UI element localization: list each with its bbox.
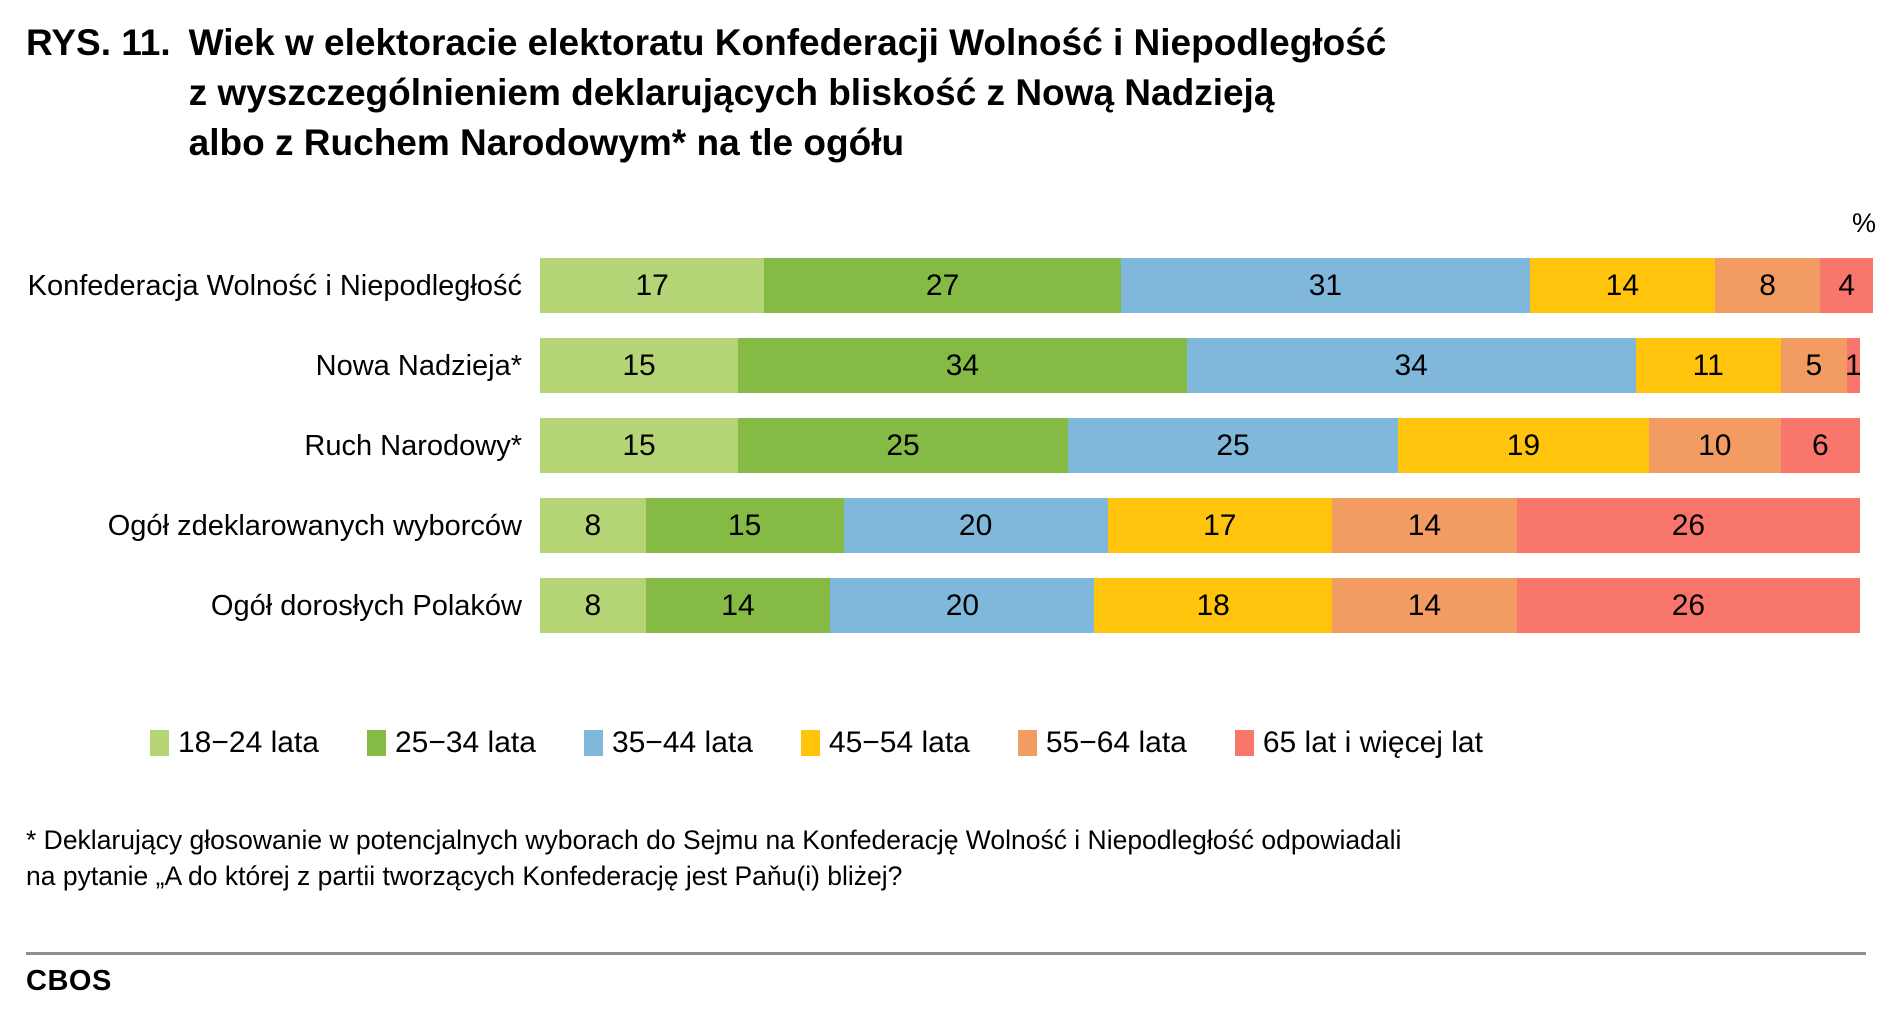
cbos-logo: CBOS (26, 965, 112, 998)
stacked-bar: 81520171426 (540, 498, 1860, 553)
bar-segment-value: 10 (1698, 431, 1731, 461)
row-label: Ogół zdeklarowanych wyborców (0, 509, 540, 543)
bar-segment: 6 (1781, 418, 1860, 473)
bar-segment-value: 4 (1838, 271, 1855, 301)
bar-segment: 8 (1715, 258, 1821, 313)
bar-segment: 11 (1636, 338, 1781, 393)
chart-legend: 18−24 lata25−34 lata35−44 lata45−54 lata… (150, 728, 1531, 758)
bar-segment-value: 11 (1693, 351, 1724, 381)
stacked-bar: 1534341151 (540, 338, 1860, 393)
legend-swatch-icon (150, 730, 169, 756)
bar-segment: 25 (1068, 418, 1398, 473)
bar-segment: 10 (1649, 418, 1781, 473)
bar-segment-value: 14 (721, 591, 754, 621)
footnote-line-1: * Deklarujący głosowanie w potencjalnych… (26, 822, 1826, 858)
bar-segment: 20 (844, 498, 1108, 553)
bar-segment: 15 (540, 338, 738, 393)
row-label: Nowa Nadzieja* (0, 349, 540, 383)
percent-axis-label: % (1852, 210, 1876, 237)
bar-segment-value: 14 (1408, 511, 1441, 541)
legend-swatch-icon (367, 730, 386, 756)
bar-segment: 17 (540, 258, 764, 313)
title-text: Wiek w elektoracie elektoratu Konfederac… (189, 18, 1387, 168)
bar-segment-value: 19 (1507, 431, 1540, 461)
legend-label: 55−64 lata (1046, 728, 1187, 758)
footnote-line-2: na pytanie „A do której z partii tworząc… (26, 858, 1826, 894)
bar-segment: 8 (540, 498, 646, 553)
chart-row: Konfederacja Wolność i Niepodległość1727… (0, 258, 1890, 313)
bar-segment-value: 8 (584, 511, 601, 541)
stacked-bar: 1727311484 (540, 258, 1873, 313)
bar-segment-value: 25 (886, 431, 919, 461)
legend-item[interactable]: 35−44 lata (584, 728, 753, 758)
legend-item[interactable]: 45−54 lata (801, 728, 970, 758)
bar-segment: 15 (540, 418, 738, 473)
bar-segment-value: 26 (1672, 511, 1705, 541)
bar-segment-value: 15 (622, 351, 655, 381)
bar-segment: 14 (1530, 258, 1715, 313)
bar-segment: 17 (1108, 498, 1332, 553)
bar-segment-value: 27 (926, 271, 959, 301)
bar-segment: 27 (764, 258, 1120, 313)
row-label: Ruch Narodowy* (0, 429, 540, 463)
footer-divider (26, 952, 1866, 955)
bar-segment: 19 (1398, 418, 1649, 473)
bar-segment: 31 (1121, 258, 1530, 313)
bar-segment-value: 18 (1197, 591, 1230, 621)
bar-segment: 20 (830, 578, 1094, 633)
bar-segment: 14 (1332, 498, 1517, 553)
bar-segment-value: 17 (636, 271, 669, 301)
legend-label: 18−24 lata (178, 728, 319, 758)
legend-item[interactable]: 25−34 lata (367, 728, 536, 758)
page-title: RYS. 11. Wiek w elektoracie elektoratu K… (26, 18, 1386, 168)
bar-segment-value: 17 (1203, 511, 1236, 541)
bar-segment-value: 31 (1309, 271, 1342, 301)
bar-segment-value: 25 (1216, 431, 1249, 461)
bar-segment-value: 5 (1805, 351, 1822, 381)
bar-segment-value: 14 (1408, 591, 1441, 621)
bar-segment-value: 34 (946, 351, 979, 381)
bar-segment-value: 1 (1847, 351, 1860, 381)
legend-label: 35−44 lata (612, 728, 753, 758)
stacked-bar-chart: Konfederacja Wolność i Niepodległość1727… (0, 258, 1890, 658)
chart-row: Nowa Nadzieja*1534341151 (0, 338, 1890, 393)
bar-segment: 14 (646, 578, 831, 633)
bar-segment-value: 8 (1759, 271, 1776, 301)
title-line-2: z wyszczególnieniem deklarujących blisko… (189, 68, 1387, 118)
bar-segment-value: 20 (959, 511, 992, 541)
bar-segment-value: 6 (1812, 431, 1829, 461)
bar-segment: 14 (1332, 578, 1517, 633)
legend-item[interactable]: 65 lat i więcej lat (1235, 728, 1483, 758)
title-line-3: albo z Ruchem Narodowym* na tle ogółu (189, 118, 1387, 168)
legend-item[interactable]: 18−24 lata (150, 728, 319, 758)
bar-segment-value: 15 (728, 511, 761, 541)
row-label: Ogół dorosłych Polaków (0, 589, 540, 623)
bar-segment-value: 15 (622, 431, 655, 461)
legend-swatch-icon (1235, 730, 1254, 756)
bar-segment: 4 (1820, 258, 1873, 313)
legend-label: 65 lat i więcej lat (1263, 728, 1483, 758)
bar-segment: 15 (646, 498, 844, 553)
bar-segment: 34 (738, 338, 1187, 393)
chart-row: Ogół dorosłych Polaków81420181426 (0, 578, 1890, 633)
stacked-bar: 15252519106 (540, 418, 1860, 473)
bar-segment: 25 (738, 418, 1068, 473)
legend-swatch-icon (584, 730, 603, 756)
bar-segment-value: 20 (946, 591, 979, 621)
bar-segment-value: 8 (584, 591, 601, 621)
legend-label: 45−54 lata (829, 728, 970, 758)
bar-segment: 26 (1517, 578, 1860, 633)
bar-segment-value: 26 (1672, 591, 1705, 621)
chart-row: Ruch Narodowy*15252519106 (0, 418, 1890, 473)
chart-row: Ogół zdeklarowanych wyborców81520171426 (0, 498, 1890, 553)
legend-label: 25−34 lata (395, 728, 536, 758)
figure-number: RYS. 11. (26, 18, 189, 68)
legend-swatch-icon (801, 730, 820, 756)
title-line-1: Wiek w elektoracie elektoratu Konfederac… (189, 18, 1387, 68)
legend-item[interactable]: 55−64 lata (1018, 728, 1187, 758)
bar-segment: 34 (1187, 338, 1636, 393)
legend-swatch-icon (1018, 730, 1037, 756)
bar-segment: 26 (1517, 498, 1860, 553)
bar-segment-value: 14 (1606, 271, 1639, 301)
footnote: * Deklarujący głosowanie w potencjalnych… (26, 822, 1826, 894)
bar-segment: 5 (1781, 338, 1847, 393)
bar-segment: 1 (1847, 338, 1860, 393)
bar-segment-value: 34 (1395, 351, 1428, 381)
bar-segment: 18 (1094, 578, 1332, 633)
bar-segment: 8 (540, 578, 646, 633)
stacked-bar: 81420181426 (540, 578, 1860, 633)
row-label: Konfederacja Wolność i Niepodległość (0, 269, 540, 303)
